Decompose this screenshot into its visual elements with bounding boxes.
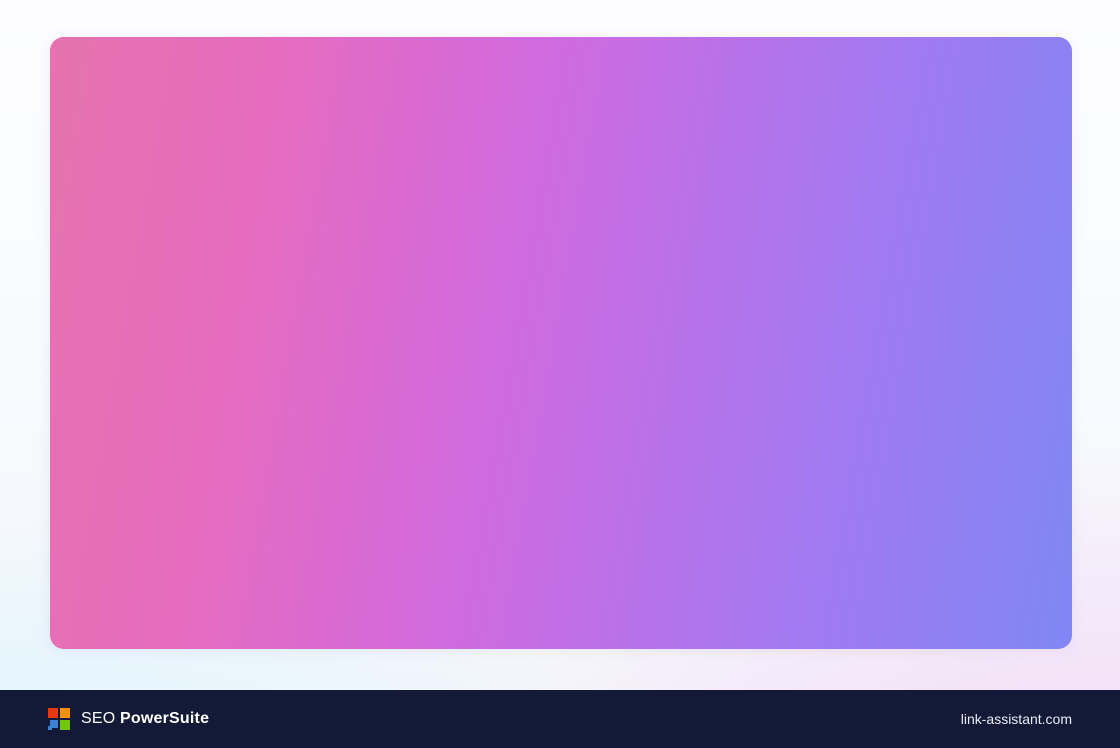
checklist-item: Social media engagement: [476, 525, 641, 565]
table-header-cell-domain: Domain trust signals: [50, 37, 254, 111]
table-header-row: Domain trust signals Website trust signa…: [50, 37, 1070, 111]
check-icon: [885, 139, 900, 154]
checklist-item-label: Security features (e.g., SSL certificate…: [297, 137, 437, 177]
trust-signals-table: Domain trust signals Website trust signa…: [50, 37, 1070, 647]
brand-name-prefix: SEO: [81, 710, 120, 727]
checklist-item: Professional design and quality content: [885, 178, 1050, 218]
table-column-other: AuthorshipProfessional design and qualit…: [867, 111, 1070, 647]
checklist-item-label: Clear and concise contact information: [910, 383, 1050, 423]
table-column-third-party: Citations of academic work by others in …: [663, 111, 867, 647]
checklist-item: Backlink profile (number, quality, and d…: [272, 281, 437, 362]
check-icon: [681, 444, 696, 459]
checklist-item-label: Domain age and duration of registration: [93, 260, 233, 300]
check-icon: [272, 385, 287, 400]
brand-name: SEO PowerSuite: [81, 710, 209, 728]
footer-url: link-assistant.com: [961, 711, 1072, 727]
check-icon: [476, 384, 491, 399]
check-icon: [272, 283, 287, 298]
check-icon: [68, 139, 83, 154]
checklist-item: Average time visitors spend on your site: [476, 382, 641, 422]
brand-lockup: SEO PowerSuite: [48, 708, 209, 730]
check-icon: [476, 445, 491, 460]
checklist-item: Domain Strength: [68, 137, 233, 157]
checklist-item: Mobile-friendliness: [272, 240, 437, 260]
checklist-item: Reputation history (whether the brand ha…: [272, 383, 437, 464]
check-icon: [476, 139, 491, 154]
checklist-item: Trust seals: [885, 342, 1050, 362]
checklist-item-label: Domain Strength: [93, 137, 193, 157]
checklist-item-label: Site speed: [297, 484, 360, 504]
column-header-label: Engagement characteristics: [480, 53, 598, 95]
checklist-item-label: Citations of academic work by others in …: [706, 137, 846, 198]
checklist-item: Site speed: [272, 484, 437, 504]
checklist-item-label: Social media engagement: [501, 525, 641, 565]
checklist-item-label: Reputation history (whether the brand ha…: [297, 383, 437, 464]
check-icon: [272, 242, 287, 257]
checklist-item: Positive reviews, social media buzz, and…: [681, 219, 846, 280]
check-icon: [68, 180, 83, 195]
footer-bar: SEO PowerSuite link-assistant.com: [0, 690, 1120, 748]
table-header-cell-third-party: Third-party trust signals: [663, 37, 867, 111]
check-icon: [681, 302, 696, 317]
checklist-item-label: Concise, relevant titles, descriptions, …: [297, 526, 437, 587]
checklist-item: Clear and concise contact information: [885, 383, 1050, 423]
checklist-item-label: Authorship: [910, 137, 974, 157]
check-icon: [885, 180, 900, 195]
checklist-item: Number of times people search for your b…: [476, 137, 641, 218]
table-header-cell-other: Other trust signals: [867, 37, 1070, 111]
table-header-cell-website: Website trust signals: [254, 37, 458, 111]
check-icon: [885, 344, 900, 359]
check-icon: [681, 221, 696, 236]
checklist-item: Other engagement metrics (e.g., bounce r…: [476, 443, 641, 504]
brand-name-suffix: PowerSuite: [120, 710, 209, 727]
checklist-item: Brand-plus-keyword searches: [476, 239, 641, 279]
table-column-engagement: Number of times people search for your b…: [458, 111, 662, 647]
check-icon: [681, 139, 696, 154]
checklist-item-label: Website architecture: [297, 198, 418, 218]
check-icon: [476, 302, 491, 317]
checklist-item-label: Links from other websites (especially fr…: [706, 300, 846, 421]
checklist-item: Citations of academic work by others in …: [681, 137, 846, 198]
column-header-label: Website trust signals: [276, 53, 382, 95]
checklist-item-label: Click-through rate (CTR) on search resul…: [501, 300, 641, 361]
checklist-item-label: Absence of 404 errors: [297, 607, 428, 627]
checklist-item: Authorship: [885, 137, 1050, 157]
four-square-logo-icon: [48, 708, 70, 730]
check-icon: [68, 262, 83, 277]
table-body-row: Domain StrengthCredibility of the top-le…: [50, 111, 1070, 647]
checklist-item: Credibility of the top-level domain (e.g…: [68, 178, 233, 239]
checklist-item-label: Other engagement metrics (e.g., bounce r…: [501, 443, 641, 504]
check-icon: [272, 139, 287, 154]
check-icon: [476, 241, 491, 256]
checklist-item: Reviews on other sites: [681, 504, 846, 524]
check-icon: [885, 303, 900, 318]
checklist-item-label: Credibility of the top-level domain (e.g…: [93, 178, 233, 239]
checklist-item-label: Positive reviews, social media buzz, and…: [706, 219, 846, 280]
column-header-label: Domain trust signals: [72, 53, 175, 95]
checklist-item-label: Mobile-friendliness: [297, 240, 408, 260]
check-icon: [476, 527, 491, 542]
checklist-item-label: Number of times people search for your b…: [501, 137, 641, 218]
table-header-cell-engagement: Engagement characteristics: [458, 37, 662, 111]
checklist-item-label: Backlink profile (number, quality, and d…: [297, 281, 437, 362]
checklist-item-label: User-generated content (UGC): [910, 240, 1050, 280]
check-icon: [272, 200, 287, 215]
check-icon: [272, 486, 287, 501]
checklist-item-label: Brand-plus-keyword searches: [501, 239, 641, 279]
check-icon: [885, 242, 900, 257]
checklist-item-label: Awards and recognition: [910, 301, 1049, 321]
checklist-item: Absence of 404 errors: [272, 607, 437, 627]
checklist-item: Domain age and duration of registration: [68, 260, 233, 300]
checklist-item: Security features (e.g., SSL certificate…: [272, 137, 437, 177]
checklist-item: Awards and recognition: [885, 301, 1050, 321]
check-icon: [272, 609, 287, 624]
checklist-item-label: Average time visitors spend on your site: [501, 382, 641, 422]
poster-page: Domain trust signals Website trust signa…: [0, 0, 1120, 748]
checklist-item: Website architecture: [272, 198, 437, 218]
checklist-item: Google reviews and star ratings: [681, 442, 846, 482]
checklist-item-label: Google reviews and star ratings: [706, 442, 846, 482]
checklist-item-label: Reviews on other sites: [706, 504, 840, 524]
table-column-website: Security features (e.g., SSL certificate…: [254, 111, 458, 647]
check-icon: [272, 528, 287, 543]
checklist-item: Concise, relevant titles, descriptions, …: [272, 526, 437, 587]
column-header-label: Third-party trust signals: [685, 53, 815, 95]
checklist-item: Links from other websites (especially fr…: [681, 300, 846, 421]
checklist-item: Click-through rate (CTR) on search resul…: [476, 300, 641, 361]
check-icon: [885, 385, 900, 400]
checklist-item: User-generated content (UGC): [885, 240, 1050, 280]
checklist-item-label: Professional design and quality content: [910, 178, 1050, 218]
table-column-domain: Domain StrengthCredibility of the top-le…: [50, 111, 254, 647]
checklist-item-label: Trust seals: [910, 342, 975, 362]
column-header-label: Other trust signals: [889, 63, 1038, 84]
check-icon: [681, 506, 696, 521]
